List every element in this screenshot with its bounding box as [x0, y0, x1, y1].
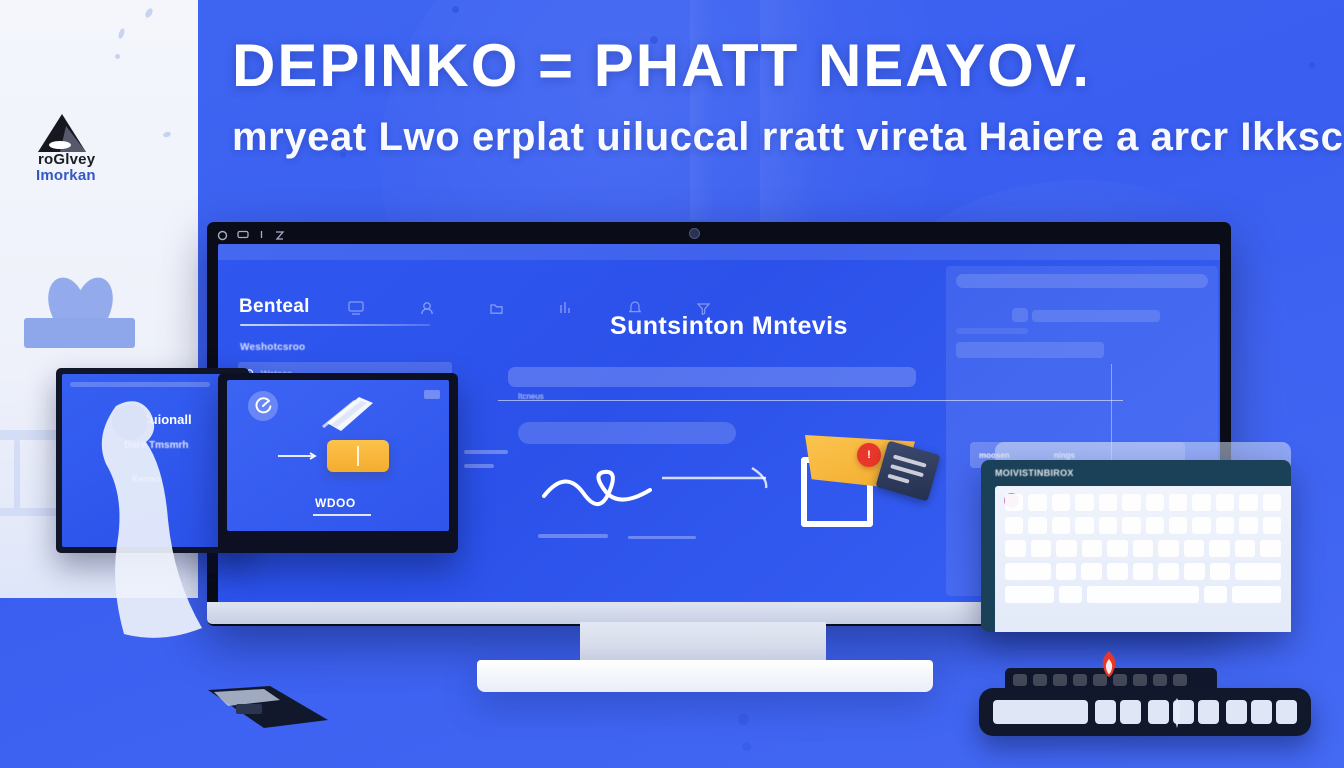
swirl-glyph-icon [253, 396, 273, 416]
keyboard-key[interactable] [1239, 517, 1257, 534]
app-brand-label: Benteal [239, 296, 310, 318]
dock-bar[interactable] [979, 688, 1311, 736]
keyboard-key[interactable] [1232, 586, 1281, 603]
keyboard-key[interactable] [1082, 540, 1103, 557]
keyboard-key[interactable] [1146, 494, 1164, 511]
keyboard-key[interactable] [1052, 494, 1070, 511]
decor-speck [115, 54, 120, 59]
panel-heading: Suntsinton Mntevis [610, 312, 848, 341]
flame-icon [1094, 650, 1124, 678]
circle-icon[interactable] [1120, 700, 1141, 724]
keyboard-key[interactable] [1146, 517, 1164, 534]
plant-pot [24, 318, 135, 348]
mountain-triangle-logo-icon [36, 112, 88, 156]
circle-swirl-logo-icon [248, 391, 278, 421]
monitor-bezel-controls[interactable] [217, 226, 285, 244]
credit-card-icon [875, 440, 940, 501]
keyboard-row[interactable] [1005, 494, 1281, 511]
shield-icon[interactable] [1226, 700, 1247, 724]
background-dot [742, 742, 751, 751]
remote-control-icon [206, 686, 330, 728]
keyboard-key[interactable] [1056, 563, 1077, 580]
brand-lockup: roGlvey Imorkan [36, 112, 166, 184]
keyboard-window-frame: MOIVISTINBIROX [981, 460, 1291, 632]
tablet-screen: WDOO [227, 380, 449, 531]
keyboard-key[interactable] [1107, 540, 1128, 557]
cursor-icon[interactable] [1095, 700, 1116, 724]
keyboard-row[interactable] [1005, 517, 1281, 534]
keyboard-key[interactable] [1107, 563, 1128, 580]
keyboard-key[interactable] [1239, 494, 1257, 511]
panel-block [14, 440, 20, 510]
target-icon[interactable] [1198, 700, 1219, 724]
keyboard-key[interactable] [1263, 494, 1281, 511]
handwritten-squiggle-icon [538, 458, 818, 518]
keyboard-key[interactable] [1099, 494, 1117, 511]
keyboard-key[interactable] [1122, 494, 1140, 511]
keyboard-key[interactable] [1005, 494, 1023, 511]
keyboard-window-body[interactable] [995, 486, 1291, 632]
settings-icon[interactable] [274, 230, 285, 241]
keyboard-key[interactable] [1005, 517, 1023, 534]
keyboard-key[interactable] [1204, 586, 1226, 603]
keyboard-spacebar[interactable] [1087, 586, 1199, 603]
dock-trackpad[interactable] [993, 700, 1088, 724]
alert-badge-icon: ! [857, 443, 881, 467]
sun-icon[interactable] [1276, 700, 1297, 724]
folder-icon[interactable] [490, 302, 503, 315]
tablet-device: WDOO [218, 373, 458, 553]
keyboard-key[interactable] [1005, 563, 1051, 580]
background-dot [452, 6, 459, 13]
panel-pill [518, 422, 736, 444]
keyboard-key[interactable] [1263, 517, 1281, 534]
right-panel-row [956, 342, 1104, 358]
layers-icon[interactable] [1133, 674, 1147, 686]
decor-speck [117, 27, 125, 39]
keyboard-row[interactable] [1005, 586, 1281, 603]
page-subtitle: mryeat Lwo erplat uiluccal rratt vireta … [232, 115, 1342, 160]
keyboard-row[interactable] [1005, 563, 1281, 580]
keyboard-key[interactable] [1005, 586, 1054, 603]
keyboard-key[interactable] [1216, 517, 1234, 534]
envelope-graphic: ! [801, 435, 935, 527]
keyboard-row[interactable] [1005, 540, 1281, 557]
user-icon[interactable] [420, 301, 434, 315]
page-title: DEPINKO = PHATT NEAYOV. [232, 34, 1342, 97]
monitor-base [477, 660, 933, 692]
keyboard-key[interactable] [1099, 517, 1117, 534]
brand-name: roGlvey [38, 152, 166, 168]
mouse-cursor-icon [1169, 698, 1185, 728]
brand-subtitle: Imorkan [36, 168, 166, 185]
forward-icon[interactable] [1033, 674, 1047, 686]
keyboard-key[interactable] [1075, 494, 1093, 511]
keyboard-key[interactable] [1005, 540, 1026, 557]
keyboard-key[interactable] [1028, 494, 1046, 511]
wifi-icon[interactable] [1251, 700, 1272, 724]
keyboard-key[interactable] [1133, 563, 1154, 580]
back-icon[interactable] [1013, 674, 1027, 686]
pointer-icon[interactable] [1148, 700, 1169, 724]
keyboard-key[interactable] [1169, 517, 1187, 534]
hero-text-block: DEPINKO = PHATT NEAYOV. mryeat Lwo erpla… [232, 34, 1342, 160]
chart-icon[interactable] [559, 301, 573, 315]
home-icon[interactable] [1073, 674, 1087, 686]
keyboard-key[interactable] [1192, 494, 1210, 511]
card-slot [357, 446, 359, 466]
keyboard-key[interactable] [1235, 540, 1256, 557]
keyboard-key[interactable] [1122, 517, 1140, 534]
keyboard-window: MOIVISTINBIROX [981, 442, 1311, 632]
ghost-line [628, 536, 696, 539]
keyboard-key[interactable] [1216, 494, 1234, 511]
right-panel-row [956, 328, 1028, 334]
more-icon[interactable] [1173, 674, 1187, 686]
laptop-top-toolbar [70, 382, 210, 387]
display-icon[interactable] [237, 230, 249, 240]
keyboard-key[interactable] [1052, 517, 1070, 534]
sidebar-divider [240, 324, 430, 326]
decor-speck [144, 7, 154, 19]
keyboard-key[interactable] [1169, 494, 1187, 511]
tablet-cta-underline [313, 514, 371, 516]
right-panel-header [956, 274, 1208, 288]
share-icon[interactable] [1153, 674, 1167, 686]
keyboard-key[interactable] [1028, 517, 1046, 534]
person-silhouette-icon [72, 398, 212, 646]
sidebar-section-label: Weshotcsroo [240, 342, 305, 353]
keyboard-key[interactable] [1056, 540, 1077, 557]
keyboard-key[interactable] [1031, 540, 1052, 557]
payment-card-icon [327, 440, 389, 472]
dock-group-right[interactable] [1226, 700, 1297, 724]
screenshot-canvas: roGlvey Imorkan DEPINKO = PHATT NEAYOV. … [0, 0, 1344, 768]
background-dot [738, 714, 749, 725]
right-panel-row [1032, 310, 1160, 322]
arrow-right-icon [278, 452, 320, 460]
ghost-line [538, 534, 608, 538]
power-icon[interactable] [217, 230, 228, 241]
keyboard-key[interactable] [1260, 540, 1281, 557]
bottom-dock[interactable] [979, 668, 1311, 744]
keyboard-key[interactable] [1075, 517, 1093, 534]
keyboard-key[interactable] [1133, 540, 1154, 557]
brightness-icon[interactable] [258, 230, 265, 241]
dashboard-icon[interactable] [348, 301, 364, 315]
dock-group-left[interactable] [1095, 700, 1141, 724]
keyboard-key[interactable] [1210, 563, 1231, 580]
keyboard-window-title: MOIVISTINBIROX [995, 468, 1074, 478]
menu-icon[interactable] [424, 390, 440, 399]
keyboard-key[interactable] [1235, 563, 1281, 580]
panel-progress-bar [508, 367, 916, 387]
keyboard-key[interactable] [1158, 563, 1179, 580]
keyboard-key[interactable] [1081, 563, 1102, 580]
keyboard-key[interactable] [1184, 540, 1205, 557]
ghost-line [464, 464, 494, 468]
refresh-icon[interactable] [1053, 674, 1067, 686]
panel-block [0, 430, 60, 440]
stacked-papers-icon [321, 393, 375, 435]
keyboard-key[interactable] [1192, 517, 1210, 534]
webcam-icon [689, 228, 700, 239]
keyboard-key[interactable] [1209, 540, 1230, 557]
right-panel-badge [1012, 308, 1028, 322]
keyboard-key[interactable] [1184, 563, 1205, 580]
screen-top-strip [218, 244, 1220, 260]
ghost-line [464, 450, 508, 454]
tablet-cta-label[interactable]: WDOO [315, 496, 356, 510]
keyboard-key[interactable] [1158, 540, 1179, 557]
keyboard-key[interactable] [1059, 586, 1081, 603]
